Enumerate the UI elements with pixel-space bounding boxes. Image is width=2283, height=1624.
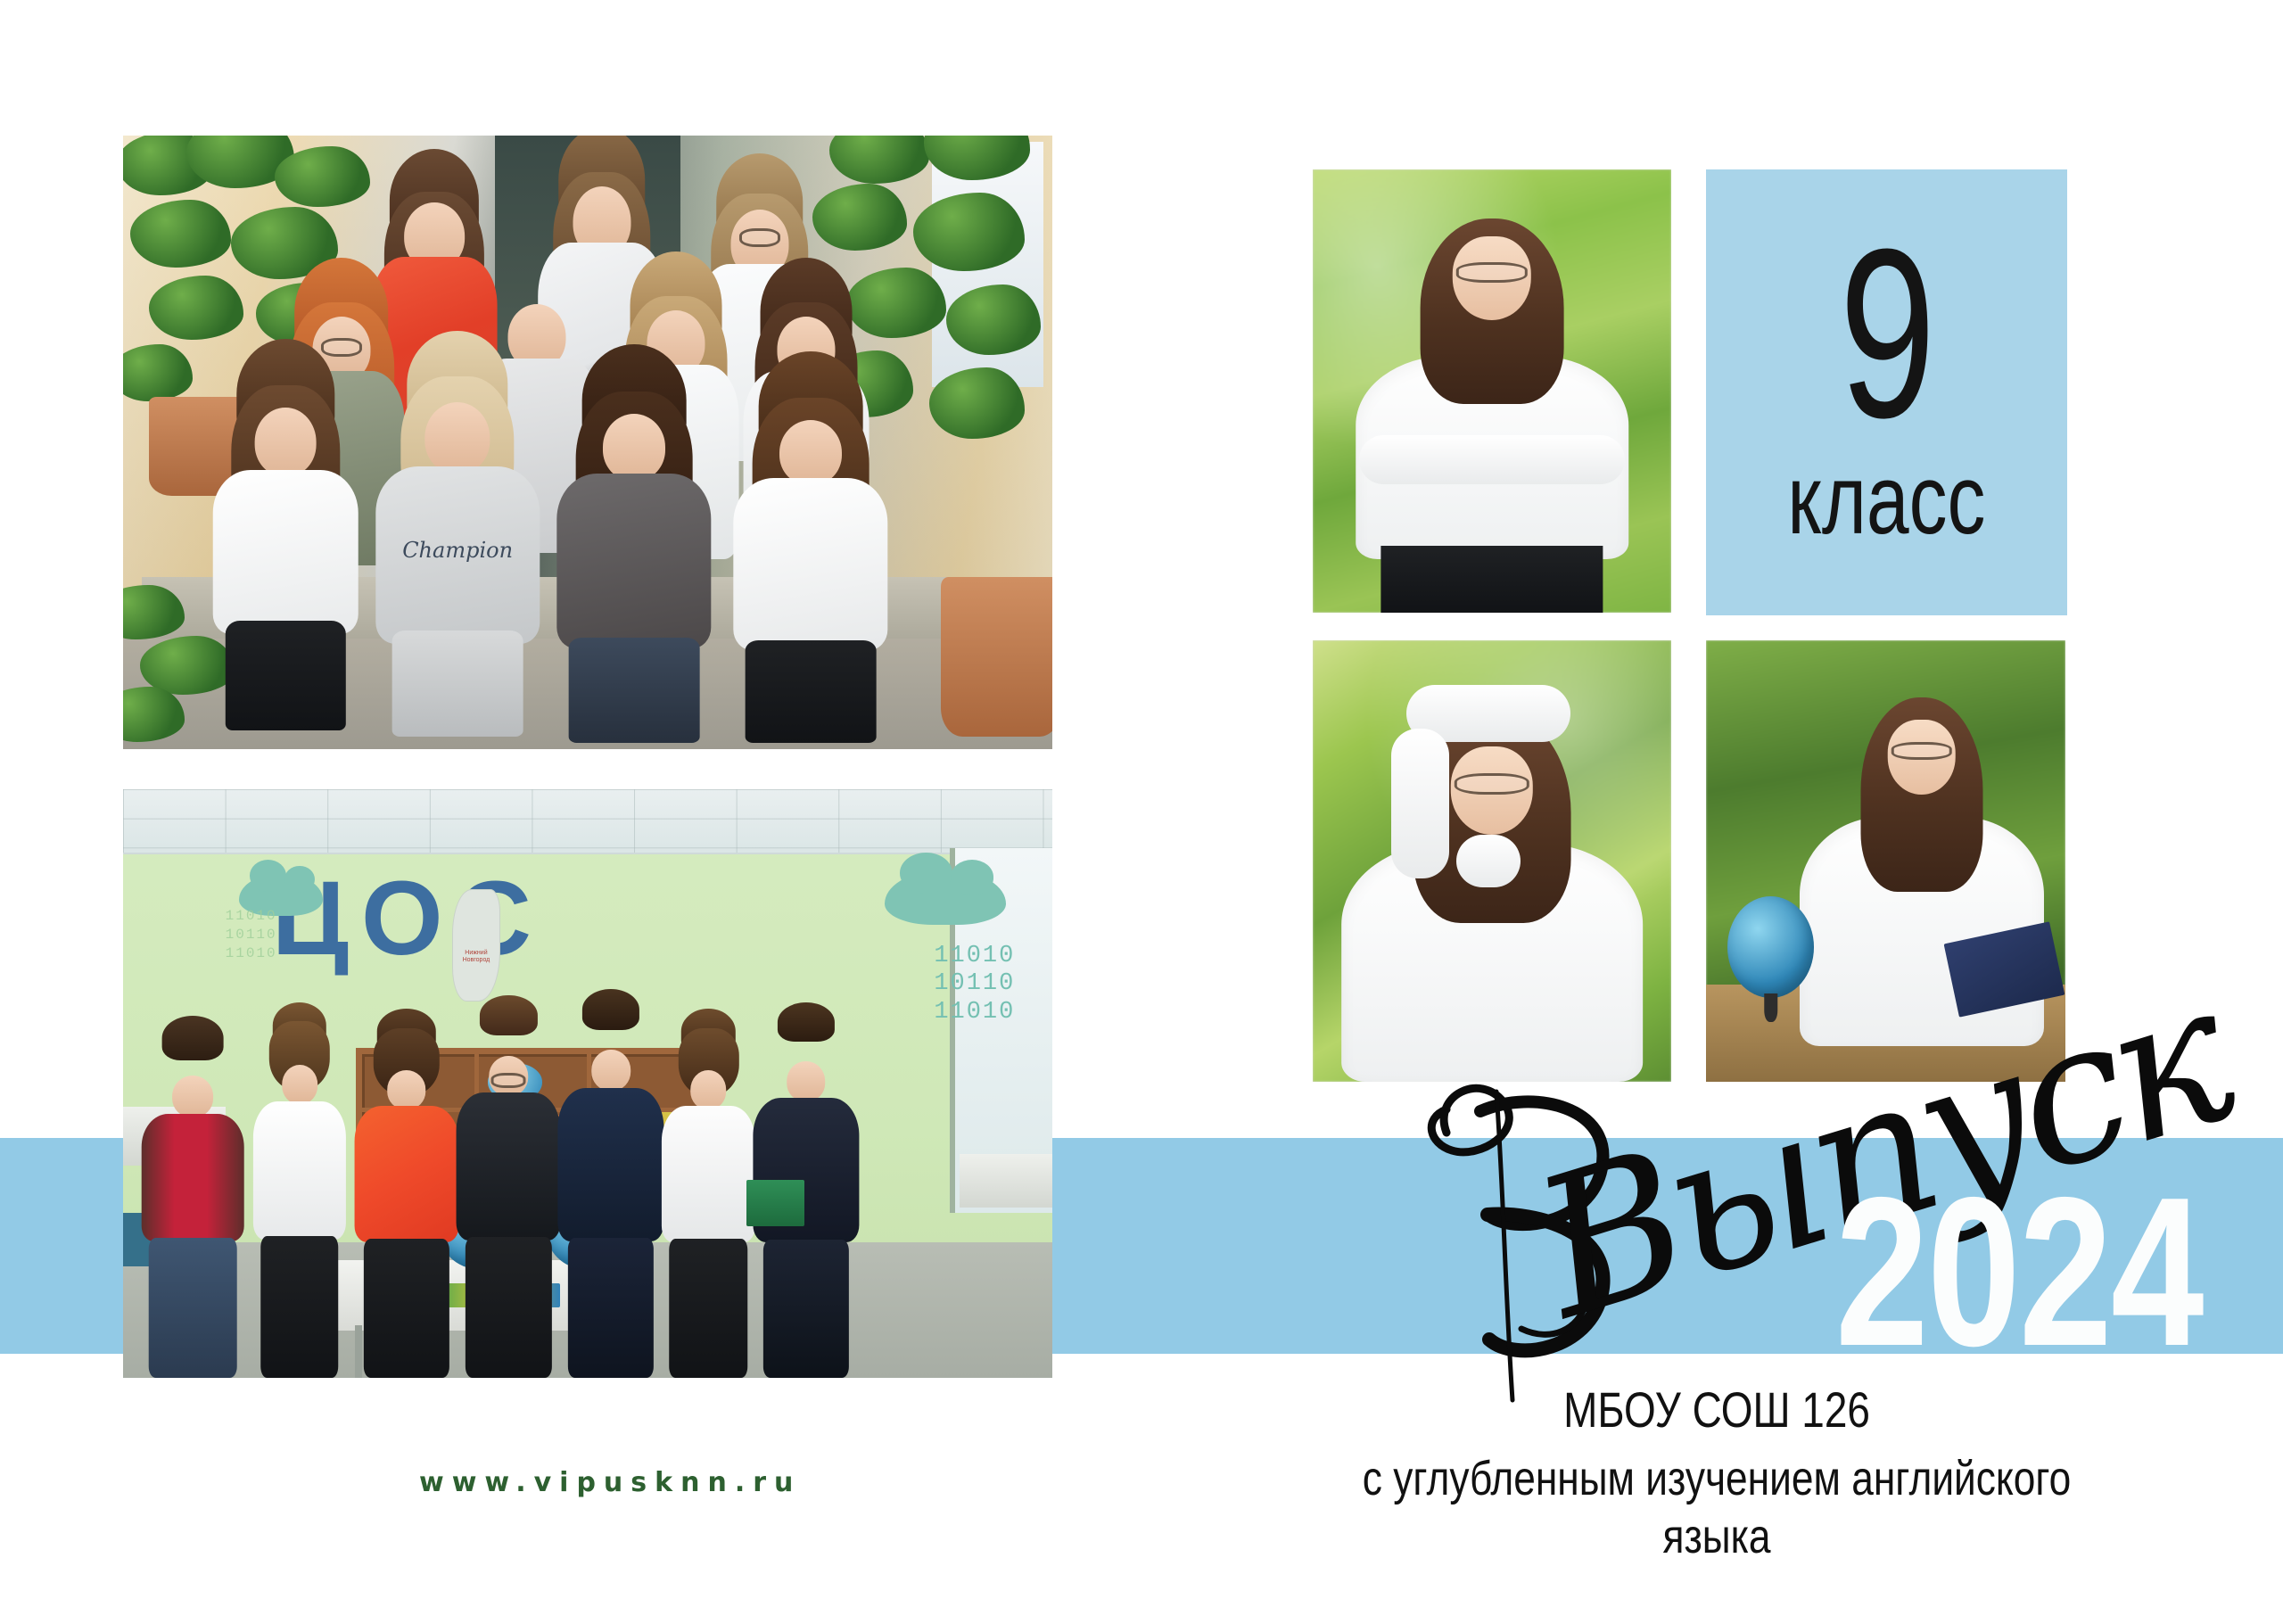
- class-number: 9: [1840, 235, 1933, 433]
- classroom-ceiling: [123, 789, 1052, 854]
- binary-decal-left: 110101011011010: [226, 907, 277, 962]
- student-5: [560, 1036, 663, 1378]
- cloud-decal-right: [885, 871, 1005, 924]
- person-front-2: Champion: [383, 381, 532, 737]
- black-trousers: [1381, 546, 1603, 613]
- student-4: [457, 1043, 560, 1378]
- graduation-year: 2024: [1835, 1166, 2203, 1379]
- student-1: [142, 1060, 244, 1378]
- class-label: класс: [1787, 451, 1985, 549]
- class-badge: 9 класс: [1706, 169, 2067, 615]
- school-subtitle: с углубленным изучением английского язык…: [1304, 1450, 2131, 1566]
- crossed-arms: [1359, 435, 1624, 484]
- student-3: [356, 1054, 458, 1378]
- person-front-1: [216, 387, 355, 730]
- globe-prop: [1727, 896, 1814, 998]
- green-book: [746, 1180, 804, 1226]
- studio-website-url[interactable]: www.vipusknn.ru: [419, 1467, 801, 1498]
- photo-portrait-2: [1313, 640, 1671, 1082]
- nizhny-novgorod-map-decal: НижнийНовгород: [452, 889, 500, 1001]
- photo-scene: ЦОС НижнийНовгород 110101011011010 11010…: [123, 789, 1052, 1378]
- person-front-4: [737, 400, 886, 743]
- photo-portrait-3: [1706, 640, 2065, 1082]
- photo-group-girls-stairs: Champion: [123, 136, 1052, 749]
- champion-logo: Champion: [402, 538, 513, 563]
- student-2: [253, 1048, 346, 1378]
- chin-hand: [1456, 835, 1521, 887]
- glasses: [1455, 773, 1529, 796]
- supporting-arm: [1391, 729, 1448, 878]
- album-page: Champion ЦО: [0, 0, 2283, 1624]
- school-caption: МБОУ СОШ 126 с углубленным изучением анг…: [1213, 1381, 2221, 1566]
- photo-scene: Champion: [123, 136, 1052, 749]
- flower-pot-right: [941, 577, 1052, 737]
- student-6: [662, 1054, 754, 1378]
- glasses: [1456, 262, 1528, 282]
- photo-cos-classroom: ЦОС НижнийНовгород 110101011011010 11010…: [123, 789, 1052, 1378]
- side-desk-2: [960, 1154, 1052, 1207]
- photo-portrait-1: [1313, 169, 1671, 613]
- glasses: [1892, 742, 1953, 760]
- school-name: МБОУ СОШ 126: [1304, 1381, 2131, 1439]
- person-front-3: [560, 393, 709, 743]
- binary-decal-right: 110101011011010: [934, 943, 1015, 1028]
- student-7: [755, 1048, 858, 1378]
